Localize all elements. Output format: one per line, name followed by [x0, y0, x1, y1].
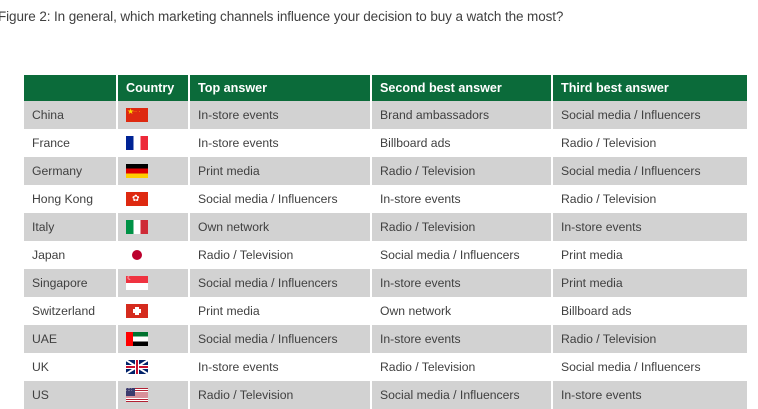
- flag-uk-icon: [126, 360, 148, 374]
- table-row: ItalyOwn networkRadio / TelevisionIn-sto…: [24, 213, 747, 241]
- cell-third-best-answer: Radio / Television: [552, 129, 747, 157]
- table-row: SwitzerlandPrint mediaOwn networkBillboa…: [24, 297, 747, 325]
- cell-third-best-answer: In-store events: [552, 381, 747, 409]
- cell-third-best-answer: Print media: [552, 241, 747, 269]
- flag-singapore-icon: [126, 276, 148, 290]
- cell-country-flag: [117, 241, 189, 269]
- cell-country-flag: [117, 101, 189, 129]
- cell-top-answer: Social media / Influencers: [189, 325, 371, 353]
- table-row: JapanRadio / TelevisionSocial media / In…: [24, 241, 747, 269]
- cell-country-name: Italy: [24, 213, 117, 241]
- cell-country-name: Japan: [24, 241, 117, 269]
- cell-country-name: UK: [24, 353, 117, 381]
- cell-top-answer: Own network: [189, 213, 371, 241]
- flag-japan-icon: [126, 248, 148, 262]
- table-body: ChinaIn-store eventsBrand ambassadorsSoc…: [24, 101, 747, 409]
- cell-country-flag: [117, 381, 189, 409]
- table-row: ChinaIn-store eventsBrand ambassadorsSoc…: [24, 101, 747, 129]
- cell-country-flag: [117, 157, 189, 185]
- table-row: SingaporeSocial media / InfluencersIn-st…: [24, 269, 747, 297]
- flag-uk-cross: [126, 360, 148, 374]
- flag-china-icon: [126, 108, 148, 122]
- flag-italy-icon: [126, 220, 148, 234]
- cell-top-answer: In-store events: [189, 129, 371, 157]
- column-header-country-name: [24, 75, 117, 101]
- cell-top-answer: In-store events: [189, 101, 371, 129]
- cell-second-best-answer: Radio / Television: [371, 157, 552, 185]
- cell-second-best-answer: Billboard ads: [371, 129, 552, 157]
- cell-country-flag: [117, 325, 189, 353]
- cell-country-name: UAE: [24, 325, 117, 353]
- flag-uae-icon: [126, 332, 148, 346]
- cell-second-best-answer: Brand ambassadors: [371, 101, 552, 129]
- cell-country-name: Germany: [24, 157, 117, 185]
- cell-top-answer: Print media: [189, 297, 371, 325]
- cell-top-answer: Print media: [189, 157, 371, 185]
- cell-second-best-answer: In-store events: [371, 269, 552, 297]
- figure-caption: Figure 2: In general, which marketing ch…: [0, 8, 754, 26]
- cell-second-best-answer: In-store events: [371, 325, 552, 353]
- cell-third-best-answer: In-store events: [552, 213, 747, 241]
- cell-country-flag: [117, 353, 189, 381]
- cell-top-answer: Radio / Television: [189, 241, 371, 269]
- column-header-top-answer: Top answer: [189, 75, 371, 101]
- cell-second-best-answer: In-store events: [371, 185, 552, 213]
- cell-country-name: France: [24, 129, 117, 157]
- cell-second-best-answer: Own network: [371, 297, 552, 325]
- table-row: Hong KongSocial media / InfluencersIn-st…: [24, 185, 747, 213]
- column-header-second-best-answer: Second best answer: [371, 75, 552, 101]
- cell-third-best-answer: Radio / Television: [552, 325, 747, 353]
- cell-country-flag: [117, 129, 189, 157]
- cell-third-best-answer: Social media / Influencers: [552, 101, 747, 129]
- cell-country-flag: [117, 185, 189, 213]
- cell-top-answer: Social media / Influencers: [189, 269, 371, 297]
- cell-third-best-answer: Billboard ads: [552, 297, 747, 325]
- cell-third-best-answer: Social media / Influencers: [552, 353, 747, 381]
- table-row: UAESocial media / InfluencersIn-store ev…: [24, 325, 747, 353]
- flag-hong-kong-icon: [126, 192, 148, 206]
- flag-switzerland-icon: [126, 304, 148, 318]
- cell-top-answer: In-store events: [189, 353, 371, 381]
- cell-country-flag: [117, 269, 189, 297]
- table-row: UKIn-store eventsRadio / TelevisionSocia…: [24, 353, 747, 381]
- cell-country-name: US: [24, 381, 117, 409]
- cell-second-best-answer: Social media / Influencers: [371, 381, 552, 409]
- cell-country-name: Switzerland: [24, 297, 117, 325]
- table-row: FranceIn-store eventsBillboard adsRadio …: [24, 129, 747, 157]
- cell-country-name: China: [24, 101, 117, 129]
- cell-third-best-answer: Social media / Influencers: [552, 157, 747, 185]
- column-header-country: Country: [117, 75, 189, 101]
- cell-second-best-answer: Radio / Television: [371, 353, 552, 381]
- cell-second-best-answer: Social media / Influencers: [371, 241, 552, 269]
- flag-france-icon: [126, 136, 148, 150]
- cell-third-best-answer: Radio / Television: [552, 185, 747, 213]
- flag-germany-icon: [126, 164, 148, 178]
- table-row: GermanyPrint mediaRadio / TelevisionSoci…: [24, 157, 747, 185]
- table-row: USRadio / TelevisionSocial media / Influ…: [24, 381, 747, 409]
- table-header-row: Country Top answer Second best answer Th…: [24, 75, 747, 101]
- cell-country-flag: [117, 213, 189, 241]
- cell-country-name: Singapore: [24, 269, 117, 297]
- flag-us-icon: [126, 388, 148, 402]
- cell-country-name: Hong Kong: [24, 185, 117, 213]
- column-header-third-best-answer: Third best answer: [552, 75, 747, 101]
- marketing-channels-table: Country Top answer Second best answer Th…: [24, 75, 747, 409]
- cell-third-best-answer: Print media: [552, 269, 747, 297]
- cell-top-answer: Social media / Influencers: [189, 185, 371, 213]
- cell-country-flag: [117, 297, 189, 325]
- cell-top-answer: Radio / Television: [189, 381, 371, 409]
- cell-second-best-answer: Radio / Television: [371, 213, 552, 241]
